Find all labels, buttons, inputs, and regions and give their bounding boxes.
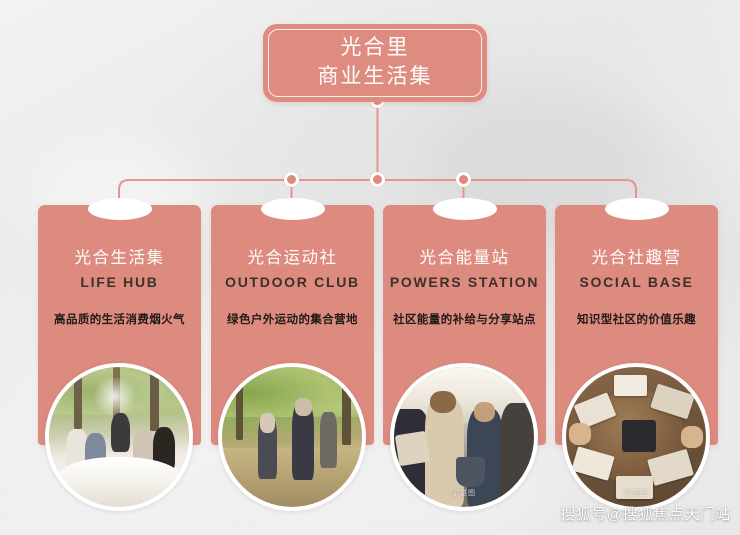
node-dot-center xyxy=(370,172,385,187)
card-title-en: LIFE HUB xyxy=(38,274,201,290)
card-photo-powers-station: 示意图 xyxy=(390,363,538,511)
photo-image-books xyxy=(566,367,706,507)
lamp-shade-icon xyxy=(605,198,669,220)
card-title-cn: 光合能量站 xyxy=(383,244,546,268)
lamp-shade-icon xyxy=(88,198,152,220)
lamp-shade-icon xyxy=(433,198,497,220)
card-photo-social-base: 示意图 xyxy=(562,363,710,511)
main-title-text: 光合里 商业生活集 xyxy=(263,33,487,91)
card-title-cn: 光合生活集 xyxy=(38,244,201,268)
card-title-cn: 光合运动社 xyxy=(211,244,374,268)
photo-image-dining xyxy=(49,367,189,507)
node-dot-right xyxy=(456,172,471,187)
card-photo-life-hub xyxy=(45,363,193,511)
photo-caption: 示意图 xyxy=(566,488,706,498)
watermark-text: 搜狐号@搜狐焦点天门站 xyxy=(560,503,731,524)
main-title-box: 光合里 商业生活集 xyxy=(263,24,487,102)
card-description: 社区能量的补给与分享站点 xyxy=(387,311,542,327)
card-description: 知识型社区的价值乐趣 xyxy=(559,311,714,327)
photo-image-meeting xyxy=(394,367,534,507)
card-description: 绿色户外运动的集合营地 xyxy=(215,311,370,327)
photo-caption: 示意图 xyxy=(394,488,534,498)
card-title-en: POWERS STATION xyxy=(383,274,546,290)
lamp-shade-icon xyxy=(261,198,325,220)
card-title-cn: 光合社趣营 xyxy=(555,244,718,268)
infographic-canvas: 光合里 商业生活集 光合生活集 LIFE HUB 高品质的生活消费烟火气 光合运… xyxy=(0,0,740,535)
node-dot-left xyxy=(284,172,299,187)
photo-image-running xyxy=(222,367,362,507)
card-title-en: SOCIAL BASE xyxy=(555,274,718,290)
card-photo-outdoor-club xyxy=(218,363,366,511)
card-title-en: OUTDOOR CLUB xyxy=(211,274,374,290)
card-description: 高品质的生活消费烟火气 xyxy=(42,311,197,327)
